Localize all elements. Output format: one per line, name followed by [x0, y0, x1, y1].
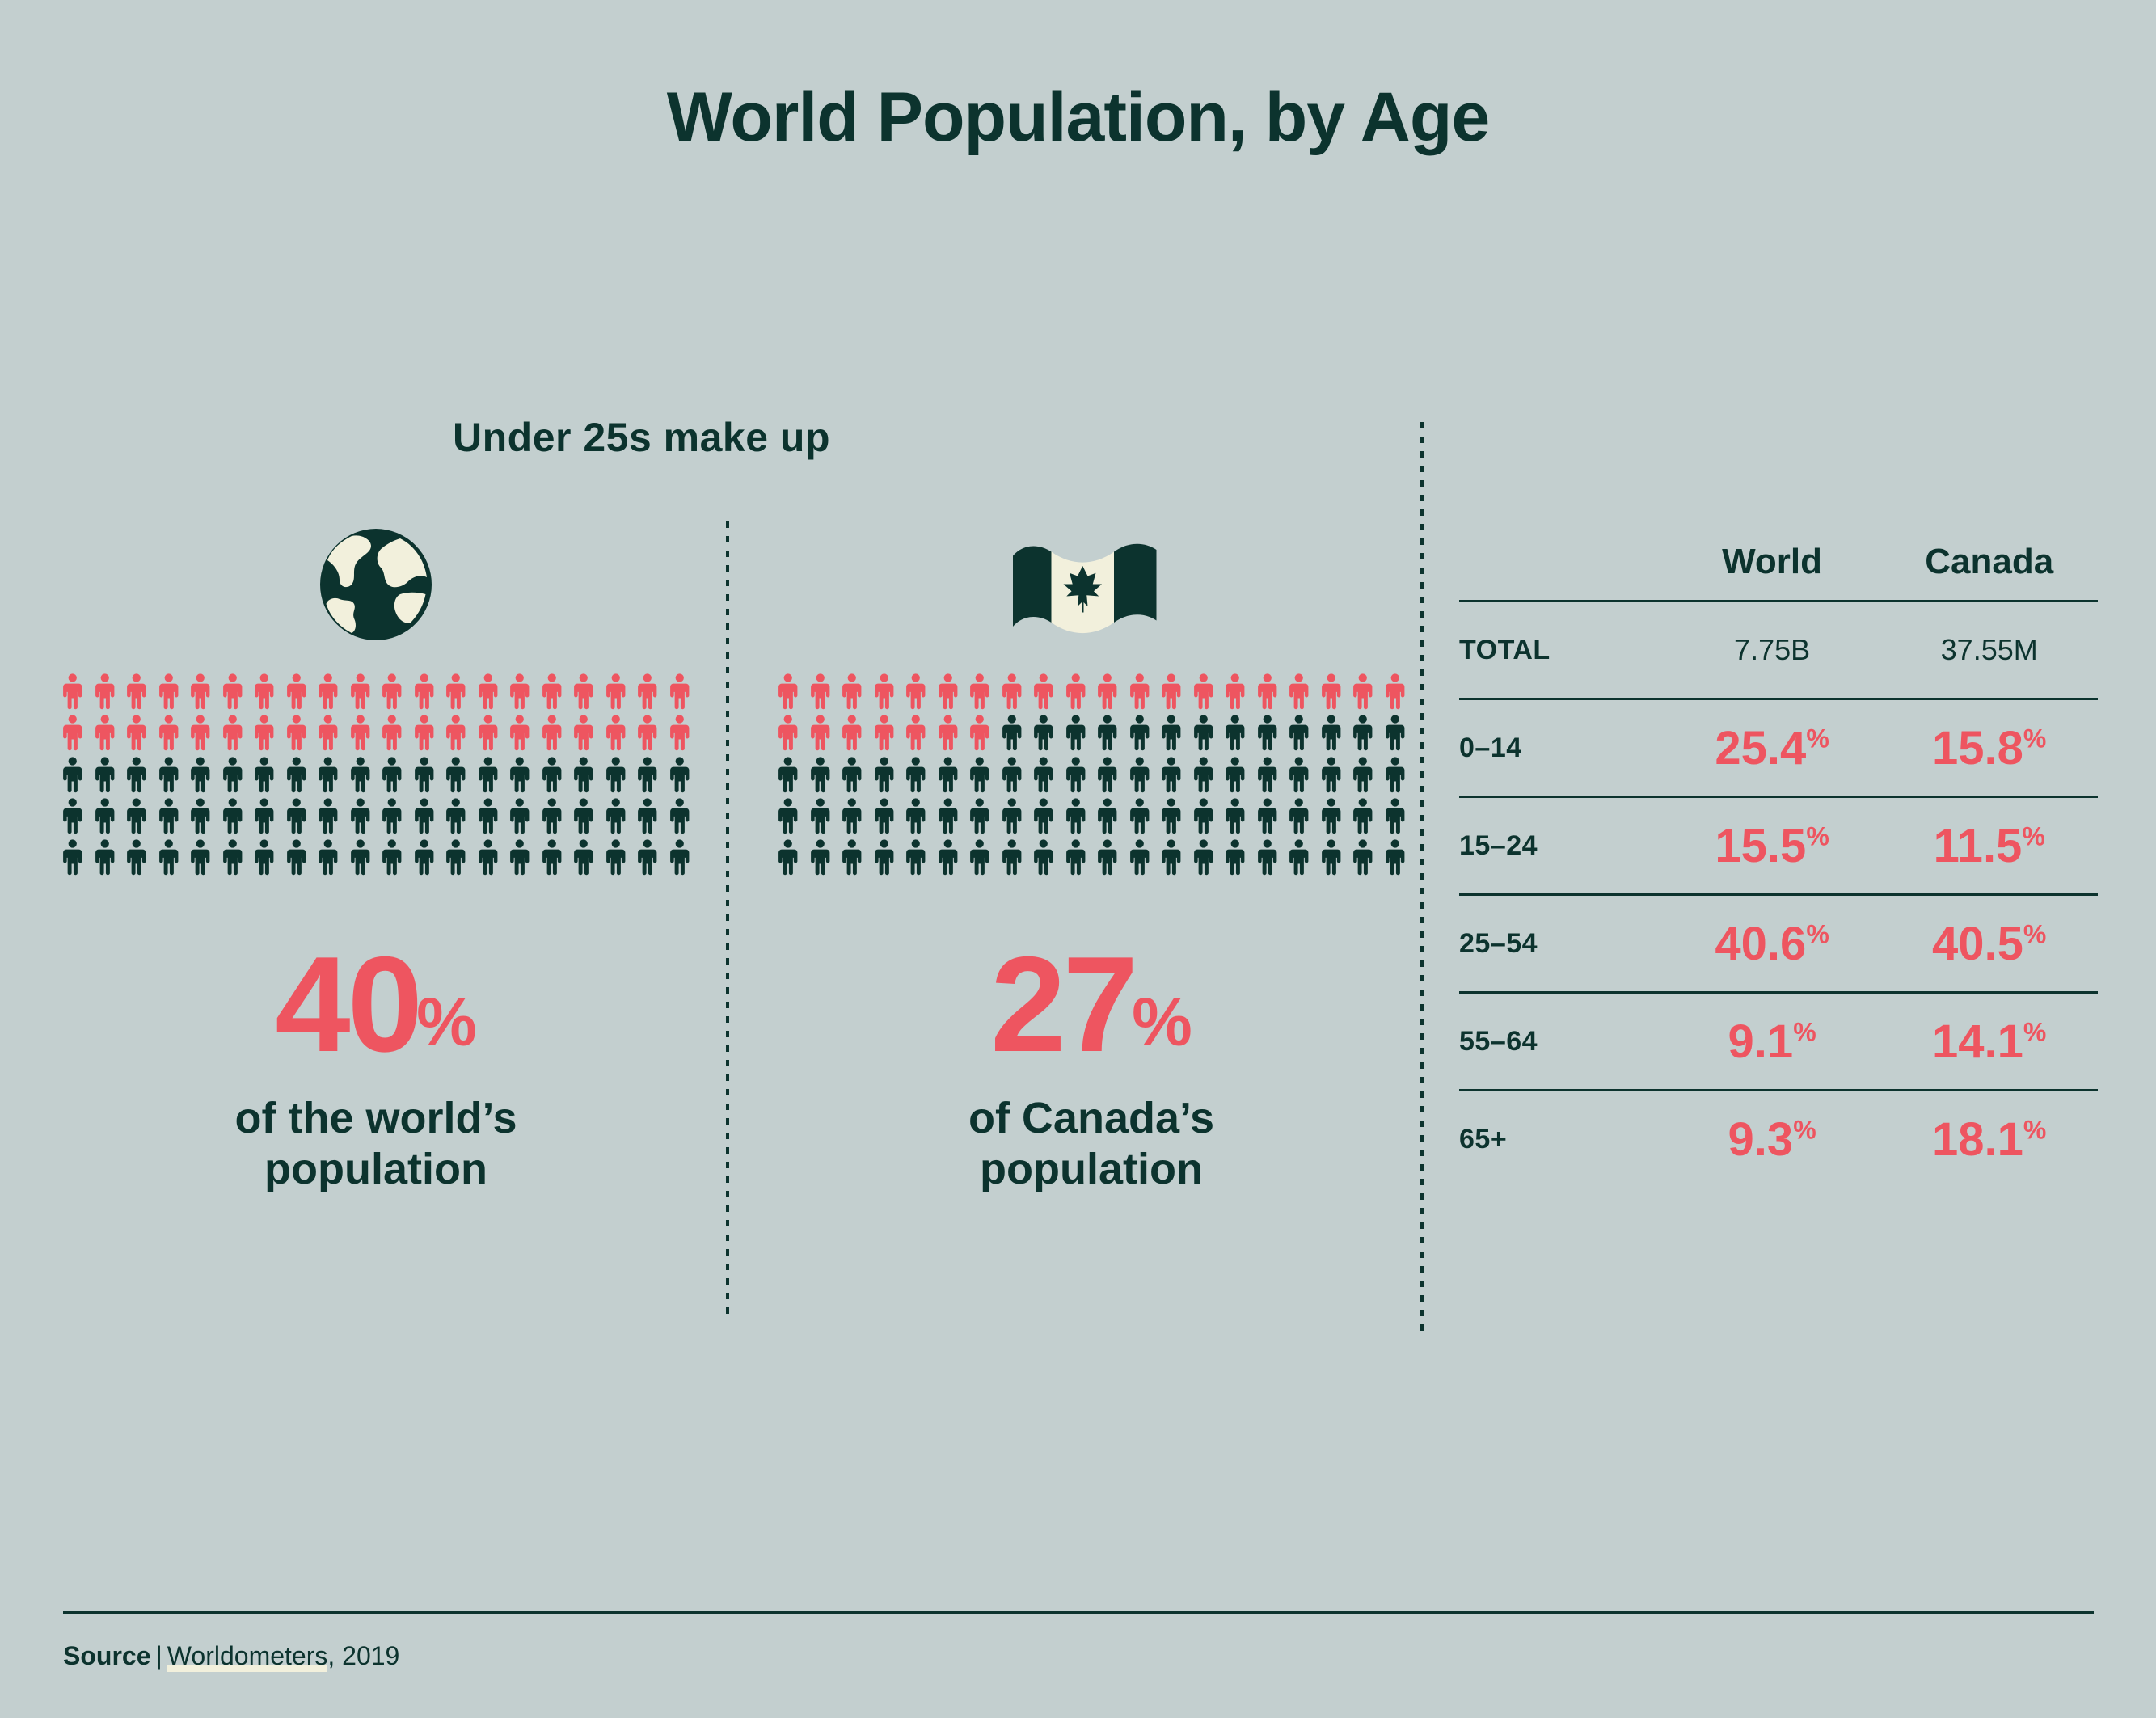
- person-icon: [996, 795, 1028, 836]
- person-icon: [376, 836, 408, 877]
- person-icon: [1347, 753, 1379, 795]
- person-icon: [1124, 753, 1156, 795]
- person-icon: [1379, 836, 1411, 877]
- person-icon: [408, 836, 441, 877]
- person-icon: [281, 836, 313, 877]
- person-icon: [1283, 753, 1315, 795]
- person-icon: [868, 836, 901, 877]
- person-icon: [1091, 753, 1124, 795]
- person-icon: [248, 836, 281, 877]
- person-icon: [120, 753, 153, 795]
- person-icon: [184, 670, 217, 711]
- person-icon: [1027, 711, 1060, 753]
- person-icon: [536, 795, 568, 836]
- person-icon: [281, 753, 313, 795]
- pictogram-canada: [772, 670, 1411, 878]
- table-cell-world: 25.4%: [1664, 699, 1881, 797]
- panel-world: 40% of the world’s population: [57, 517, 695, 1196]
- person-icon: [567, 795, 600, 836]
- person-icon: [153, 753, 185, 795]
- person-icon: [57, 711, 89, 753]
- divider-world-canada: [726, 521, 729, 1322]
- globe-icon: [57, 517, 695, 651]
- person-icon: [1091, 670, 1124, 711]
- person-icon: [184, 753, 217, 795]
- person-icon: [1315, 795, 1348, 836]
- person-icon: [900, 836, 932, 877]
- person-icon: [900, 753, 932, 795]
- person-icon: [567, 670, 600, 711]
- person-icon: [1283, 670, 1315, 711]
- table-cell-canada: 11.5%: [1880, 797, 2098, 895]
- pictogram-world: [57, 670, 695, 878]
- person-icon: [120, 795, 153, 836]
- person-icon: [1124, 711, 1156, 753]
- person-icon: [1347, 795, 1379, 836]
- person-icon: [932, 670, 964, 711]
- source-label: Source: [63, 1641, 150, 1670]
- person-icon: [567, 836, 600, 877]
- person-icon: [868, 795, 901, 836]
- person-icon: [376, 711, 408, 753]
- person-icon: [1315, 753, 1348, 795]
- person-icon: [996, 753, 1028, 795]
- person-icon: [184, 836, 217, 877]
- person-icon: [57, 836, 89, 877]
- person-icon: [1027, 836, 1060, 877]
- person-icon: [1188, 670, 1220, 711]
- person-icon: [772, 753, 804, 795]
- person-icon: [1188, 836, 1220, 877]
- table-cell-age-label: 25–54: [1459, 895, 1664, 993]
- person-icon: [664, 753, 696, 795]
- person-icon: [217, 670, 249, 711]
- person-icon: [1251, 753, 1284, 795]
- person-icon: [567, 753, 600, 795]
- caption-world-line1: of the world’s: [57, 1093, 695, 1145]
- table-cell-world: 7.75B: [1664, 602, 1881, 699]
- person-icon: [1347, 836, 1379, 877]
- person-icon: [868, 753, 901, 795]
- person-icon: [536, 753, 568, 795]
- person-icon: [120, 836, 153, 877]
- person-icon: [281, 795, 313, 836]
- person-icon: [900, 711, 932, 753]
- person-icon: [440, 711, 472, 753]
- person-icon: [89, 836, 121, 877]
- caption-canada-line1: of Canada’s: [772, 1093, 1411, 1145]
- person-icon: [1188, 711, 1220, 753]
- person-icon: [248, 795, 281, 836]
- person-icon: [472, 836, 504, 877]
- person-icon: [1188, 795, 1220, 836]
- divider-panels-table: [1420, 422, 1424, 1336]
- person-icon: [600, 670, 632, 711]
- person-icon: [1315, 711, 1348, 753]
- person-icon: [312, 795, 344, 836]
- person-icon: [120, 711, 153, 753]
- person-icon: [1251, 836, 1284, 877]
- table-header-world: World: [1664, 542, 1881, 602]
- person-icon: [868, 711, 901, 753]
- source-divider: [63, 1611, 2094, 1614]
- caption-world: of the world’s population: [57, 1093, 695, 1196]
- person-icon: [836, 711, 868, 753]
- person-icon: [1155, 795, 1188, 836]
- person-icon: [996, 711, 1028, 753]
- subtitle: Under 25s make up: [453, 414, 830, 461]
- person-icon: [1027, 795, 1060, 836]
- table-cell-age-label: 65+: [1459, 1091, 1664, 1188]
- person-icon: [248, 670, 281, 711]
- table-cell-canada: 40.5%: [1880, 895, 2098, 993]
- table-cell-canada: 18.1%: [1880, 1091, 2098, 1188]
- person-icon: [932, 711, 964, 753]
- person-icon: [804, 795, 837, 836]
- person-icon: [184, 795, 217, 836]
- person-icon: [567, 711, 600, 753]
- person-icon: [184, 711, 217, 753]
- person-icon: [1251, 670, 1284, 711]
- person-icon: [1379, 795, 1411, 836]
- person-icon: [1060, 711, 1092, 753]
- person-icon: [1283, 836, 1315, 877]
- person-icon: [804, 753, 837, 795]
- person-icon: [836, 795, 868, 836]
- person-icon: [217, 711, 249, 753]
- person-icon: [1027, 753, 1060, 795]
- person-icon: [1283, 795, 1315, 836]
- person-icon: [1091, 836, 1124, 877]
- person-icon: [153, 670, 185, 711]
- table-row: 55–649.1%14.1%: [1459, 993, 2098, 1091]
- person-icon: [1347, 711, 1379, 753]
- person-icon: [1188, 753, 1220, 795]
- stat-world-percent: %: [416, 984, 477, 1060]
- source-organization[interactable]: Worldometers: [167, 1641, 328, 1672]
- person-icon: [996, 670, 1028, 711]
- person-icon: [89, 670, 121, 711]
- source-line: Source|Worldometers, 2019: [63, 1641, 399, 1671]
- person-icon: [217, 753, 249, 795]
- person-icon: [440, 753, 472, 795]
- person-icon: [772, 711, 804, 753]
- person-icon: [344, 753, 377, 795]
- person-icon: [868, 670, 901, 711]
- person-icon: [57, 795, 89, 836]
- person-icon: [440, 836, 472, 877]
- person-icon: [772, 795, 804, 836]
- table-cell-canada: 14.1%: [1880, 993, 2098, 1091]
- person-icon: [600, 711, 632, 753]
- person-icon: [932, 836, 964, 877]
- person-icon: [344, 711, 377, 753]
- person-icon: [996, 836, 1028, 877]
- person-icon: [804, 670, 837, 711]
- person-icon: [1283, 711, 1315, 753]
- person-icon: [772, 836, 804, 877]
- person-icon: [472, 795, 504, 836]
- person-icon: [1060, 670, 1092, 711]
- person-icon: [1124, 670, 1156, 711]
- person-icon: [120, 670, 153, 711]
- person-icon: [932, 795, 964, 836]
- person-icon: [1219, 753, 1251, 795]
- person-icon: [89, 711, 121, 753]
- person-icon: [1315, 836, 1348, 877]
- person-icon: [1219, 836, 1251, 877]
- table-body: TOTAL7.75B37.55M0–1425.4%15.8%15–2415.5%…: [1459, 602, 2098, 1188]
- person-icon: [89, 753, 121, 795]
- person-icon: [600, 753, 632, 795]
- person-icon: [217, 836, 249, 877]
- table-cell-world: 9.1%: [1664, 993, 1881, 1091]
- person-icon: [600, 795, 632, 836]
- person-icon: [376, 753, 408, 795]
- person-icon: [900, 670, 932, 711]
- person-icon: [804, 711, 837, 753]
- person-icon: [631, 753, 664, 795]
- table-row: TOTAL7.75B37.55M: [1459, 602, 2098, 699]
- panel-canada: 27% of Canada’s population: [772, 517, 1411, 1196]
- stat-world: 40%: [57, 936, 695, 1072]
- person-icon: [1219, 670, 1251, 711]
- person-icon: [281, 670, 313, 711]
- table-cell-age-label: 0–14: [1459, 699, 1664, 797]
- table-cell-age-label: 55–64: [1459, 993, 1664, 1091]
- table-cell-world: 9.3%: [1664, 1091, 1881, 1188]
- person-icon: [312, 670, 344, 711]
- table-cell-age-label: TOTAL: [1459, 602, 1664, 699]
- person-icon: [1251, 795, 1284, 836]
- table-cell-canada: 37.55M: [1880, 602, 2098, 699]
- person-icon: [1155, 670, 1188, 711]
- person-icon: [1027, 670, 1060, 711]
- person-icon: [281, 711, 313, 753]
- person-icon: [664, 670, 696, 711]
- person-icon: [836, 753, 868, 795]
- person-icon: [1251, 711, 1284, 753]
- person-icon: [932, 753, 964, 795]
- person-icon: [664, 795, 696, 836]
- person-icon: [1060, 836, 1092, 877]
- person-icon: [1091, 795, 1124, 836]
- person-icon: [472, 753, 504, 795]
- table-row: 25–5440.6%40.5%: [1459, 895, 2098, 993]
- person-icon: [248, 753, 281, 795]
- table-header-blank: [1459, 542, 1664, 602]
- person-icon: [344, 670, 377, 711]
- person-icon: [1060, 795, 1092, 836]
- person-icon: [836, 670, 868, 711]
- person-icon: [631, 711, 664, 753]
- person-icon: [440, 795, 472, 836]
- person-icon: [472, 711, 504, 753]
- person-icon: [376, 670, 408, 711]
- source-year: , 2019: [327, 1641, 399, 1670]
- person-icon: [344, 836, 377, 877]
- person-icon: [504, 711, 536, 753]
- person-icon: [312, 711, 344, 753]
- stat-world-number: 40: [275, 928, 420, 1080]
- person-icon: [472, 670, 504, 711]
- person-icon: [1347, 670, 1379, 711]
- age-breakdown-table-wrapper: World Canada TOTAL7.75B37.55M0–1425.4%15…: [1459, 542, 2098, 1187]
- person-icon: [153, 711, 185, 753]
- person-icon: [408, 753, 441, 795]
- person-icon: [964, 711, 996, 753]
- person-icon: [900, 795, 932, 836]
- person-icon: [408, 795, 441, 836]
- person-icon: [600, 836, 632, 877]
- person-icon: [631, 836, 664, 877]
- person-icon: [57, 670, 89, 711]
- stat-canada-number: 27: [990, 928, 1135, 1080]
- canada-flag-icon: [772, 517, 1411, 651]
- person-icon: [1379, 711, 1411, 753]
- table-cell-world: 40.6%: [1664, 895, 1881, 993]
- person-icon: [408, 711, 441, 753]
- person-icon: [1124, 795, 1156, 836]
- person-icon: [504, 836, 536, 877]
- person-icon: [153, 836, 185, 877]
- person-icon: [631, 670, 664, 711]
- person-icon: [772, 670, 804, 711]
- person-icon: [1060, 753, 1092, 795]
- age-breakdown-table: World Canada TOTAL7.75B37.55M0–1425.4%15…: [1459, 542, 2098, 1187]
- person-icon: [1155, 753, 1188, 795]
- person-icon: [504, 753, 536, 795]
- person-icon: [344, 795, 377, 836]
- person-icon: [536, 836, 568, 877]
- person-icon: [408, 670, 441, 711]
- person-icon: [964, 670, 996, 711]
- caption-canada-line2: population: [772, 1144, 1411, 1196]
- stat-canada: 27%: [772, 936, 1411, 1072]
- table-row: 15–2415.5%11.5%: [1459, 797, 2098, 895]
- person-icon: [804, 836, 837, 877]
- person-icon: [440, 670, 472, 711]
- person-icon: [964, 795, 996, 836]
- table-header-canada: Canada: [1880, 542, 2098, 602]
- person-icon: [1379, 670, 1411, 711]
- table-cell-age-label: 15–24: [1459, 797, 1664, 895]
- person-icon: [964, 753, 996, 795]
- source-separator: |: [155, 1641, 162, 1670]
- person-icon: [664, 836, 696, 877]
- person-icon: [536, 670, 568, 711]
- person-icon: [248, 711, 281, 753]
- person-icon: [1219, 711, 1251, 753]
- person-icon: [664, 711, 696, 753]
- table-header-row: World Canada: [1459, 542, 2098, 602]
- person-icon: [504, 670, 536, 711]
- person-icon: [1124, 836, 1156, 877]
- stat-canada-percent: %: [1132, 984, 1192, 1060]
- person-icon: [1155, 711, 1188, 753]
- page-title: World Population, by Age: [0, 78, 2156, 158]
- person-icon: [312, 836, 344, 877]
- person-icon: [1155, 836, 1188, 877]
- table-row: 0–1425.4%15.8%: [1459, 699, 2098, 797]
- person-icon: [1091, 711, 1124, 753]
- person-icon: [504, 795, 536, 836]
- table-cell-canada: 15.8%: [1880, 699, 2098, 797]
- person-icon: [312, 753, 344, 795]
- person-icon: [89, 795, 121, 836]
- person-icon: [964, 836, 996, 877]
- person-icon: [376, 795, 408, 836]
- person-icon: [836, 836, 868, 877]
- table-row: 65+9.3%18.1%: [1459, 1091, 2098, 1188]
- caption-world-line2: population: [57, 1144, 695, 1196]
- person-icon: [1379, 753, 1411, 795]
- person-icon: [536, 711, 568, 753]
- person-icon: [1315, 670, 1348, 711]
- caption-canada: of Canada’s population: [772, 1093, 1411, 1196]
- person-icon: [1219, 795, 1251, 836]
- person-icon: [153, 795, 185, 836]
- person-icon: [57, 753, 89, 795]
- person-icon: [631, 795, 664, 836]
- table-cell-world: 15.5%: [1664, 797, 1881, 895]
- person-icon: [217, 795, 249, 836]
